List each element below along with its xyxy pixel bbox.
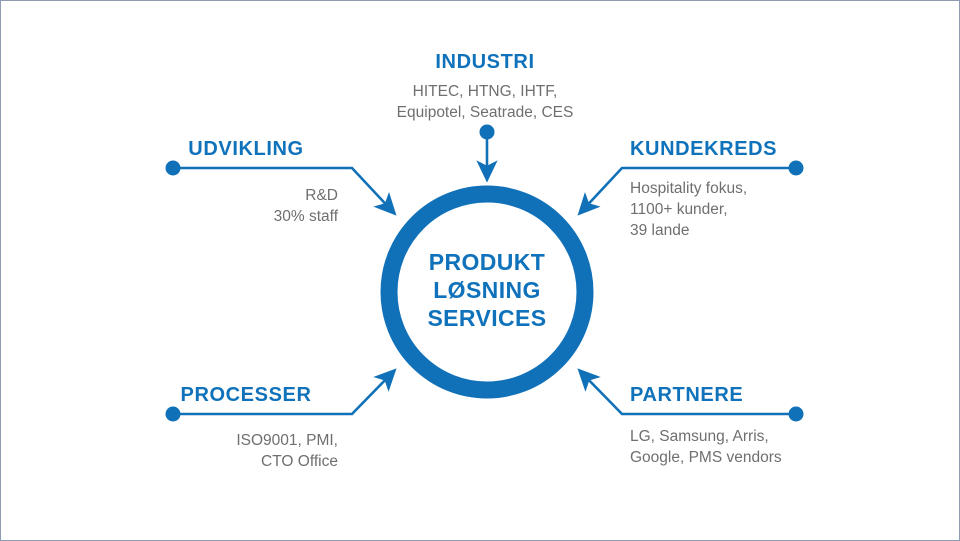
node-body-partnere: LG, Samsung, Arris, Google, PMS vendors	[630, 426, 845, 468]
center-label-line-3: SERVICES	[393, 304, 581, 332]
node-body-industri-line-1: HITEC, HTNG, IHTF,	[365, 81, 605, 102]
node-body-processer-line-1: ISO9001, PMI,	[176, 430, 338, 451]
node-body-udvikling-line-1: R&D	[176, 185, 338, 206]
node-body-kundekreds: Hospitality fokus, 1100+ kunder, 39 land…	[630, 178, 845, 241]
node-body-industri: HITEC, HTNG, IHTF, Equipotel, Seatrade, …	[365, 81, 605, 123]
node-body-partnere-line-2: Google, PMS vendors	[630, 447, 845, 468]
node-title-industri: INDUSTRI	[385, 51, 585, 74]
node-body-industri-line-2: Equipotel, Seatrade, CES	[365, 102, 605, 123]
diagram-canvas: PRODUKT LØSNING SERVICES INDUSTRI HITEC,…	[0, 0, 960, 541]
node-body-processer: ISO9001, PMI, CTO Office	[176, 430, 338, 472]
center-label: PRODUKT LØSNING SERVICES	[393, 248, 581, 332]
node-body-partnere-line-1: LG, Samsung, Arris,	[630, 426, 845, 447]
node-title-udvikling: UDVIKLING	[153, 138, 339, 161]
center-label-line-1: PRODUKT	[393, 248, 581, 276]
node-body-udvikling-line-2: 30% staff	[176, 206, 338, 227]
node-body-kundekreds-line-2: 1100+ kunder,	[630, 199, 845, 220]
node-title-processer: PROCESSER	[153, 384, 339, 407]
node-body-udvikling: R&D 30% staff	[176, 185, 338, 227]
connector-industri	[480, 125, 495, 180]
node-body-kundekreds-line-3: 39 lande	[630, 220, 845, 241]
center-label-line-2: LØSNING	[393, 276, 581, 304]
node-title-kundekreds: KUNDEKREDS	[630, 138, 860, 161]
node-body-kundekreds-line-1: Hospitality fokus,	[630, 178, 845, 199]
node-body-processer-line-2: CTO Office	[176, 451, 338, 472]
node-title-partnere: PARTNERE	[630, 384, 860, 407]
